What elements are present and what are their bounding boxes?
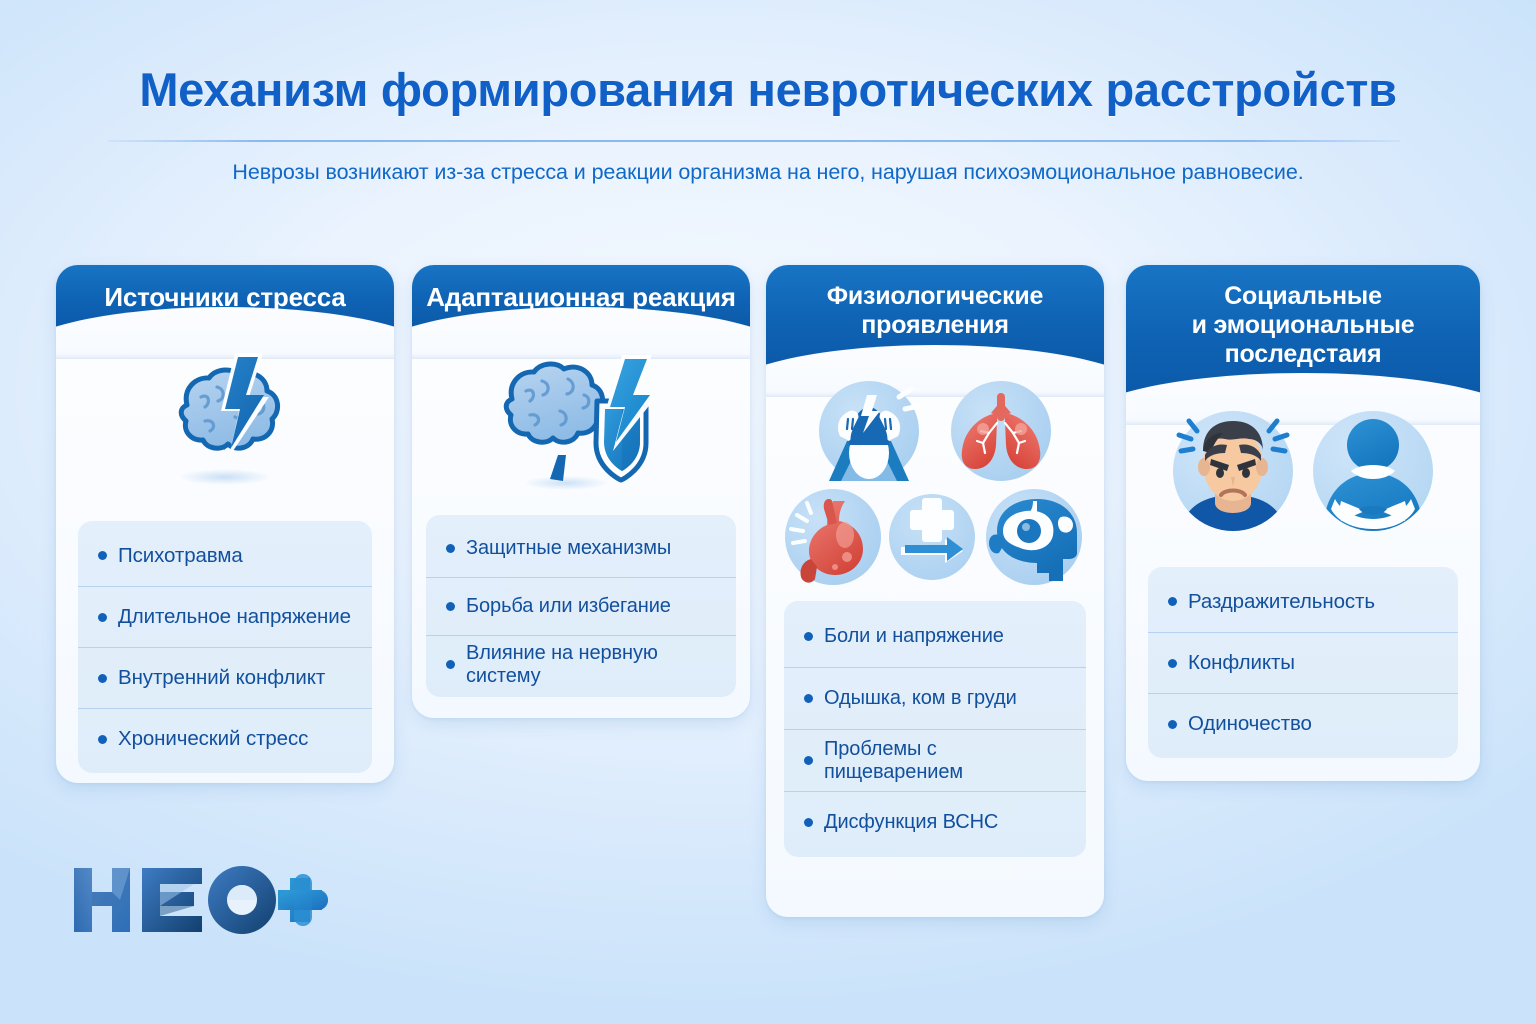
bullet-icon xyxy=(804,818,813,827)
card-title: Физиологические проявления xyxy=(780,282,1090,340)
card-list: Защитные механизмы Борьба или избегание … xyxy=(426,515,736,697)
bullet-icon xyxy=(98,613,107,622)
card-title-line1: Социальные xyxy=(1140,282,1466,311)
list-item-label: Одиночество xyxy=(1188,712,1312,736)
list-item[interactable]: Длительное напряжение xyxy=(78,586,372,647)
list-item[interactable]: Психотравма xyxy=(78,525,372,586)
card-header: Социальные и эмоциональные последстаия xyxy=(1126,265,1480,393)
list-item[interactable]: Борьба или избегание xyxy=(426,577,736,635)
card-body: Боли и напряжение Одышка, ком в груди Пр… xyxy=(766,381,1104,857)
bullet-icon xyxy=(98,735,107,744)
list-item[interactable]: Одиночество xyxy=(1148,693,1458,754)
list-item-label: Боли и напряжение xyxy=(824,625,1004,648)
list-item-label: Хронический стресс xyxy=(118,727,308,751)
card-stress-sources[interactable]: Источники стресса xyxy=(56,265,394,783)
card-list: Боли и напряжение Одышка, ком в груди Пр… xyxy=(784,601,1086,857)
card-title: Социальные и эмоциональные последстаия xyxy=(1140,282,1466,369)
card-header: Адаптационная реакция xyxy=(412,265,750,327)
brain-lightning-icon xyxy=(125,345,325,495)
list-item-label: Психотравма xyxy=(118,544,243,568)
list-item[interactable]: Защитные механизмы xyxy=(426,519,736,577)
card-body: Психотравма Длительное напряжение Внутре… xyxy=(56,341,394,773)
page-header: Механизм формирования невротических расс… xyxy=(0,0,1536,117)
bullet-icon xyxy=(1168,720,1177,729)
header-divider xyxy=(108,140,1400,142)
list-item-label: Длительное напряжение xyxy=(118,605,351,629)
icon-zone xyxy=(56,341,394,499)
list-item[interactable]: Боли и напряжение xyxy=(784,605,1086,667)
list-item[interactable]: Раздражительность xyxy=(1148,571,1458,632)
lungs-icon xyxy=(935,379,1067,483)
list-item[interactable]: Влияние на нервную систему xyxy=(426,635,736,693)
list-item[interactable]: Дисфункция ВСНС xyxy=(784,791,1086,853)
bullet-icon xyxy=(804,632,813,641)
card-title-line2: и эмоциональные xyxy=(1140,311,1466,340)
page-title: Механизм формирования невротических расс… xyxy=(0,0,1536,117)
angry-face-icon xyxy=(1163,403,1303,539)
list-item-label: Раздражительность xyxy=(1188,590,1375,614)
brain-shield-lightning-icon xyxy=(466,343,696,498)
stomach-pain-icon xyxy=(777,487,889,587)
bullet-icon xyxy=(804,756,813,765)
list-item-label: Внутренний конфликт xyxy=(118,666,325,690)
bullet-icon xyxy=(446,660,455,669)
card-physiological-symptoms[interactable]: Физиологические проявления xyxy=(766,265,1104,917)
bullet-icon xyxy=(98,674,107,683)
card-body: Раздражительность Конфликты Одиночество xyxy=(1126,401,1480,758)
card-title-line3: последстаия xyxy=(1140,340,1466,369)
card-title-line1: Физиологические xyxy=(780,282,1090,311)
card-body: Защитные механизмы Борьба или избегание … xyxy=(412,339,750,697)
bullet-icon xyxy=(446,602,455,611)
list-item-label: Дисфункция ВСНС xyxy=(824,811,998,834)
card-title: Адаптационная реакция xyxy=(426,282,736,312)
list-item[interactable]: Проблемы с пищеварением xyxy=(784,729,1086,791)
list-item-label: Борьба или избегание xyxy=(466,595,671,618)
head-profile-eye-icon xyxy=(975,487,1093,587)
list-item[interactable]: Одышка, ком в груди xyxy=(784,667,1086,729)
bullet-icon xyxy=(804,694,813,703)
head-tension-icon xyxy=(803,379,935,483)
list-item-label: Защитные механизмы xyxy=(466,537,671,560)
icon-zone-row-1 xyxy=(766,381,1104,481)
bullet-icon xyxy=(1168,659,1177,668)
bullet-icon xyxy=(98,551,107,560)
arrow-plus-icon xyxy=(889,487,975,587)
card-header: Источники стресса xyxy=(56,265,394,327)
icon-zone-row-2 xyxy=(766,487,1104,587)
card-title: Источники стресса xyxy=(70,282,380,312)
icon-zone xyxy=(412,339,750,501)
page-subtitle: Неврозы возникают из-за стресса и реакци… xyxy=(0,160,1536,185)
list-item[interactable]: Внутренний конфликт xyxy=(78,647,372,708)
card-adaptive-reaction[interactable]: Адаптационная реакция xyxy=(412,265,750,718)
card-social-emotional-consequences[interactable]: Социальные и эмоциональные последстаия xyxy=(1126,265,1480,781)
card-list: Раздражительность Конфликты Одиночество xyxy=(1148,567,1458,758)
list-item[interactable]: Хронический стресс xyxy=(78,708,372,769)
icon-zone xyxy=(1126,401,1480,541)
list-item-label: Влияние на нервную систему xyxy=(466,642,716,688)
card-title-line2: проявления xyxy=(780,311,1090,340)
neo-plus-logo[interactable] xyxy=(70,860,330,940)
list-item-label: Одышка, ком в груди xyxy=(824,687,1017,710)
card-list: Психотравма Длительное напряжение Внутре… xyxy=(78,521,372,773)
bullet-icon xyxy=(1168,597,1177,606)
bullet-icon xyxy=(446,544,455,553)
lonely-person-icon xyxy=(1303,403,1443,539)
card-header: Физиологические проявления xyxy=(766,265,1104,365)
list-item-label: Конфликты xyxy=(1188,651,1295,675)
list-item[interactable]: Конфликты xyxy=(1148,632,1458,693)
list-item-label: Проблемы с пищеварением xyxy=(824,738,1066,784)
